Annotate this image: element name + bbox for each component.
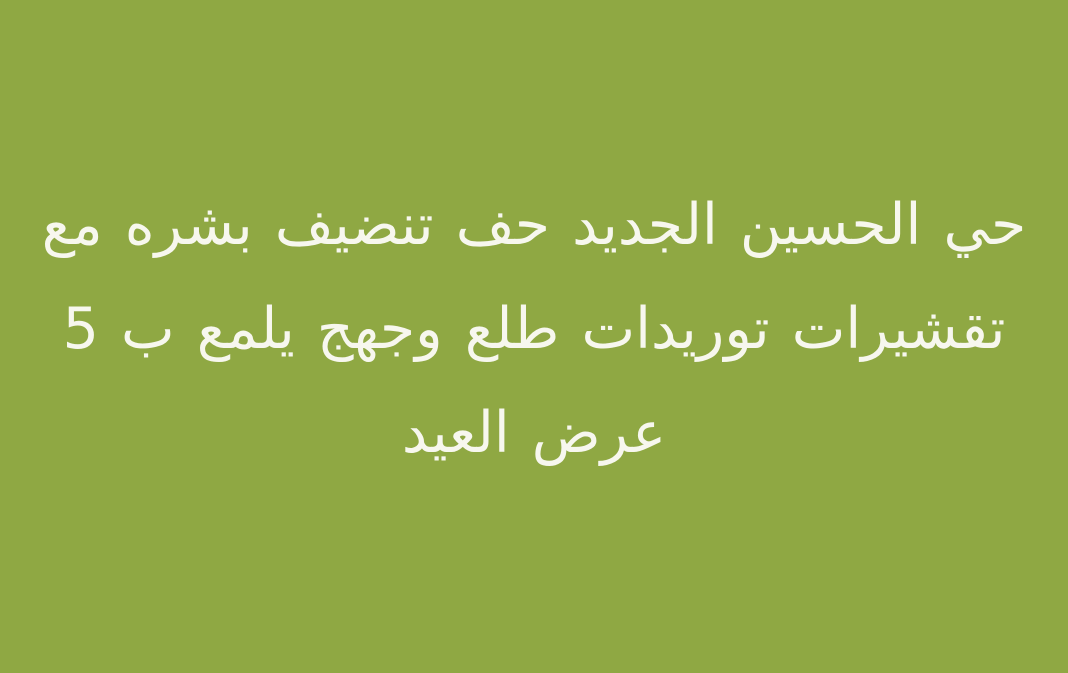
promo-banner: حي الحسين الجديد حف تنضيف بشره مع تقشيرا…	[0, 0, 1068, 673]
promo-line-3: عرض العيد	[32, 381, 1036, 485]
promo-text-block: حي الحسين الجديد حف تنضيف بشره مع تقشيرا…	[32, 173, 1036, 485]
promo-line-1: حي الحسين الجديد حف تنضيف بشره مع	[32, 173, 1036, 277]
promo-line-2: تقشيرات توريدات طلع وجهج يلمع ب 5	[32, 277, 1036, 381]
